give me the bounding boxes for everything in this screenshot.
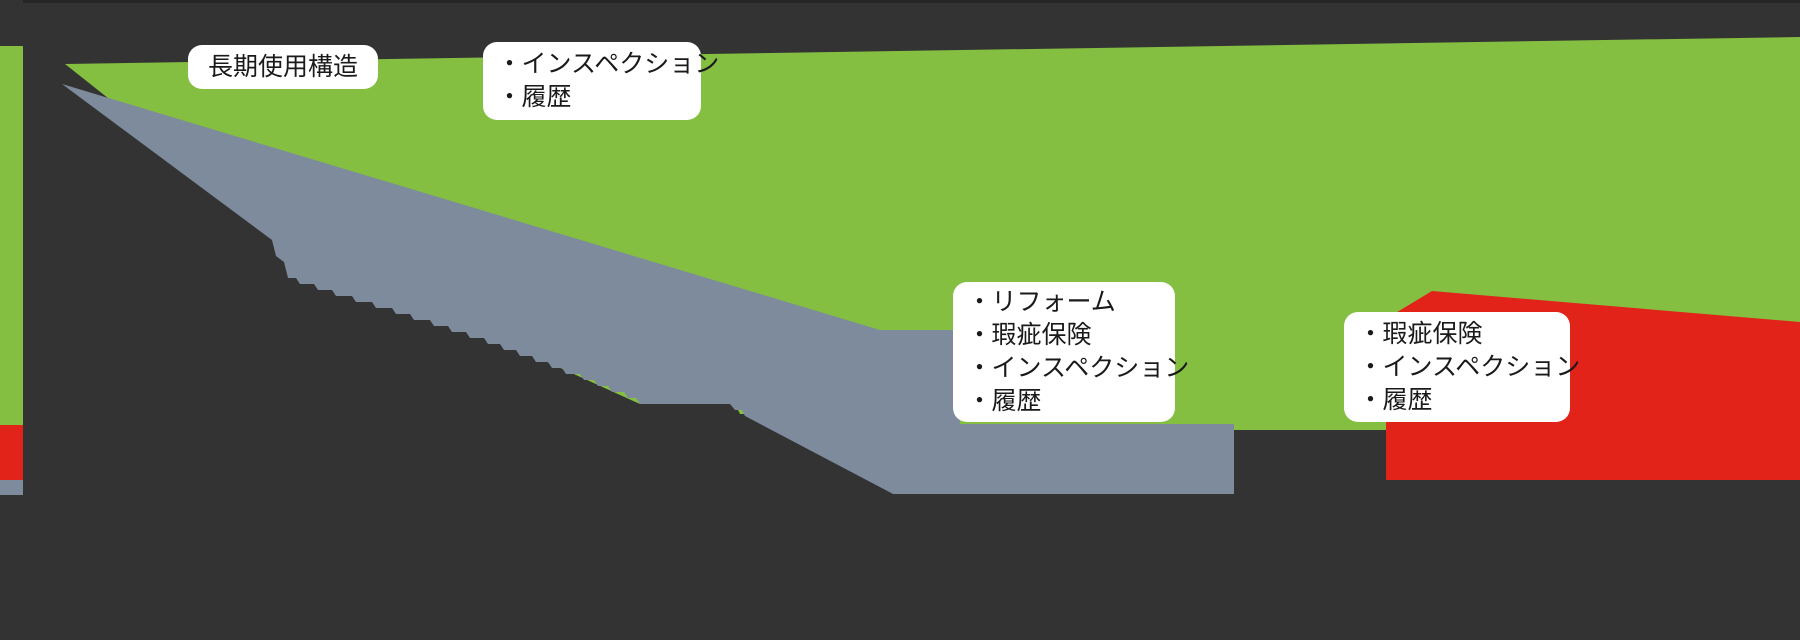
callout-line: ・インスペクション bbox=[497, 48, 687, 81]
callout-line-text: 瑕疵保険 bbox=[1383, 320, 1483, 348]
callout-line-text: リフォーム bbox=[992, 288, 1116, 316]
callout-line-text: 履歴 bbox=[1383, 386, 1433, 414]
legend-green-segment bbox=[0, 46, 23, 425]
callout-line: ・瑕疵保険 bbox=[1358, 318, 1556, 351]
callout-line-text: インスペクション bbox=[522, 50, 720, 78]
callout-line: ・インスペクション bbox=[1358, 351, 1556, 384]
legend-gray-segment bbox=[0, 480, 23, 495]
bullet-mark: ・ bbox=[497, 83, 522, 111]
callout-warranty-inspection-history[interactable]: ・瑕疵保険 ・インスペクション ・履歴 bbox=[1344, 312, 1570, 422]
callout-line-text: 履歴 bbox=[992, 387, 1042, 415]
bullet-mark: ・ bbox=[967, 321, 992, 349]
callout-line: 長期使用構造 bbox=[208, 51, 358, 84]
callout-line: ・リフォーム bbox=[967, 286, 1161, 319]
callout-line-text: 履歴 bbox=[522, 83, 572, 111]
callout-line: ・履歴 bbox=[497, 81, 687, 114]
diagram-canvas: 長期使用構造 ・インスペクション ・履歴 ・リフォーム ・瑕疵保険 ・インスペク… bbox=[0, 0, 1800, 640]
bullet-mark: ・ bbox=[967, 288, 992, 316]
bullet-mark: ・ bbox=[1358, 353, 1383, 381]
callout-line-text: 瑕疵保険 bbox=[992, 321, 1092, 349]
bullet-mark: ・ bbox=[967, 354, 992, 382]
gray-base-band bbox=[960, 424, 1234, 494]
callout-reform-warranty-inspection-history[interactable]: ・リフォーム ・瑕疵保険 ・インスペクション ・履歴 bbox=[953, 282, 1175, 422]
callout-line-text: インスペクション bbox=[992, 354, 1190, 382]
callout-line: ・インスペクション bbox=[967, 352, 1161, 385]
callout-line: ・履歴 bbox=[1358, 384, 1556, 417]
bullet-mark: ・ bbox=[1358, 320, 1383, 348]
callout-inspection-history[interactable]: ・インスペクション ・履歴 bbox=[483, 42, 701, 120]
legend-red-segment bbox=[0, 425, 23, 480]
callout-line: ・履歴 bbox=[967, 385, 1161, 418]
callout-long-term-structure[interactable]: 長期使用構造 bbox=[188, 45, 378, 89]
bullet-mark: ・ bbox=[967, 387, 992, 415]
callout-line-text: インスペクション bbox=[1383, 353, 1581, 381]
bullet-mark: ・ bbox=[497, 50, 522, 78]
bullet-mark: ・ bbox=[1358, 386, 1383, 414]
callout-line: ・瑕疵保険 bbox=[967, 319, 1161, 352]
